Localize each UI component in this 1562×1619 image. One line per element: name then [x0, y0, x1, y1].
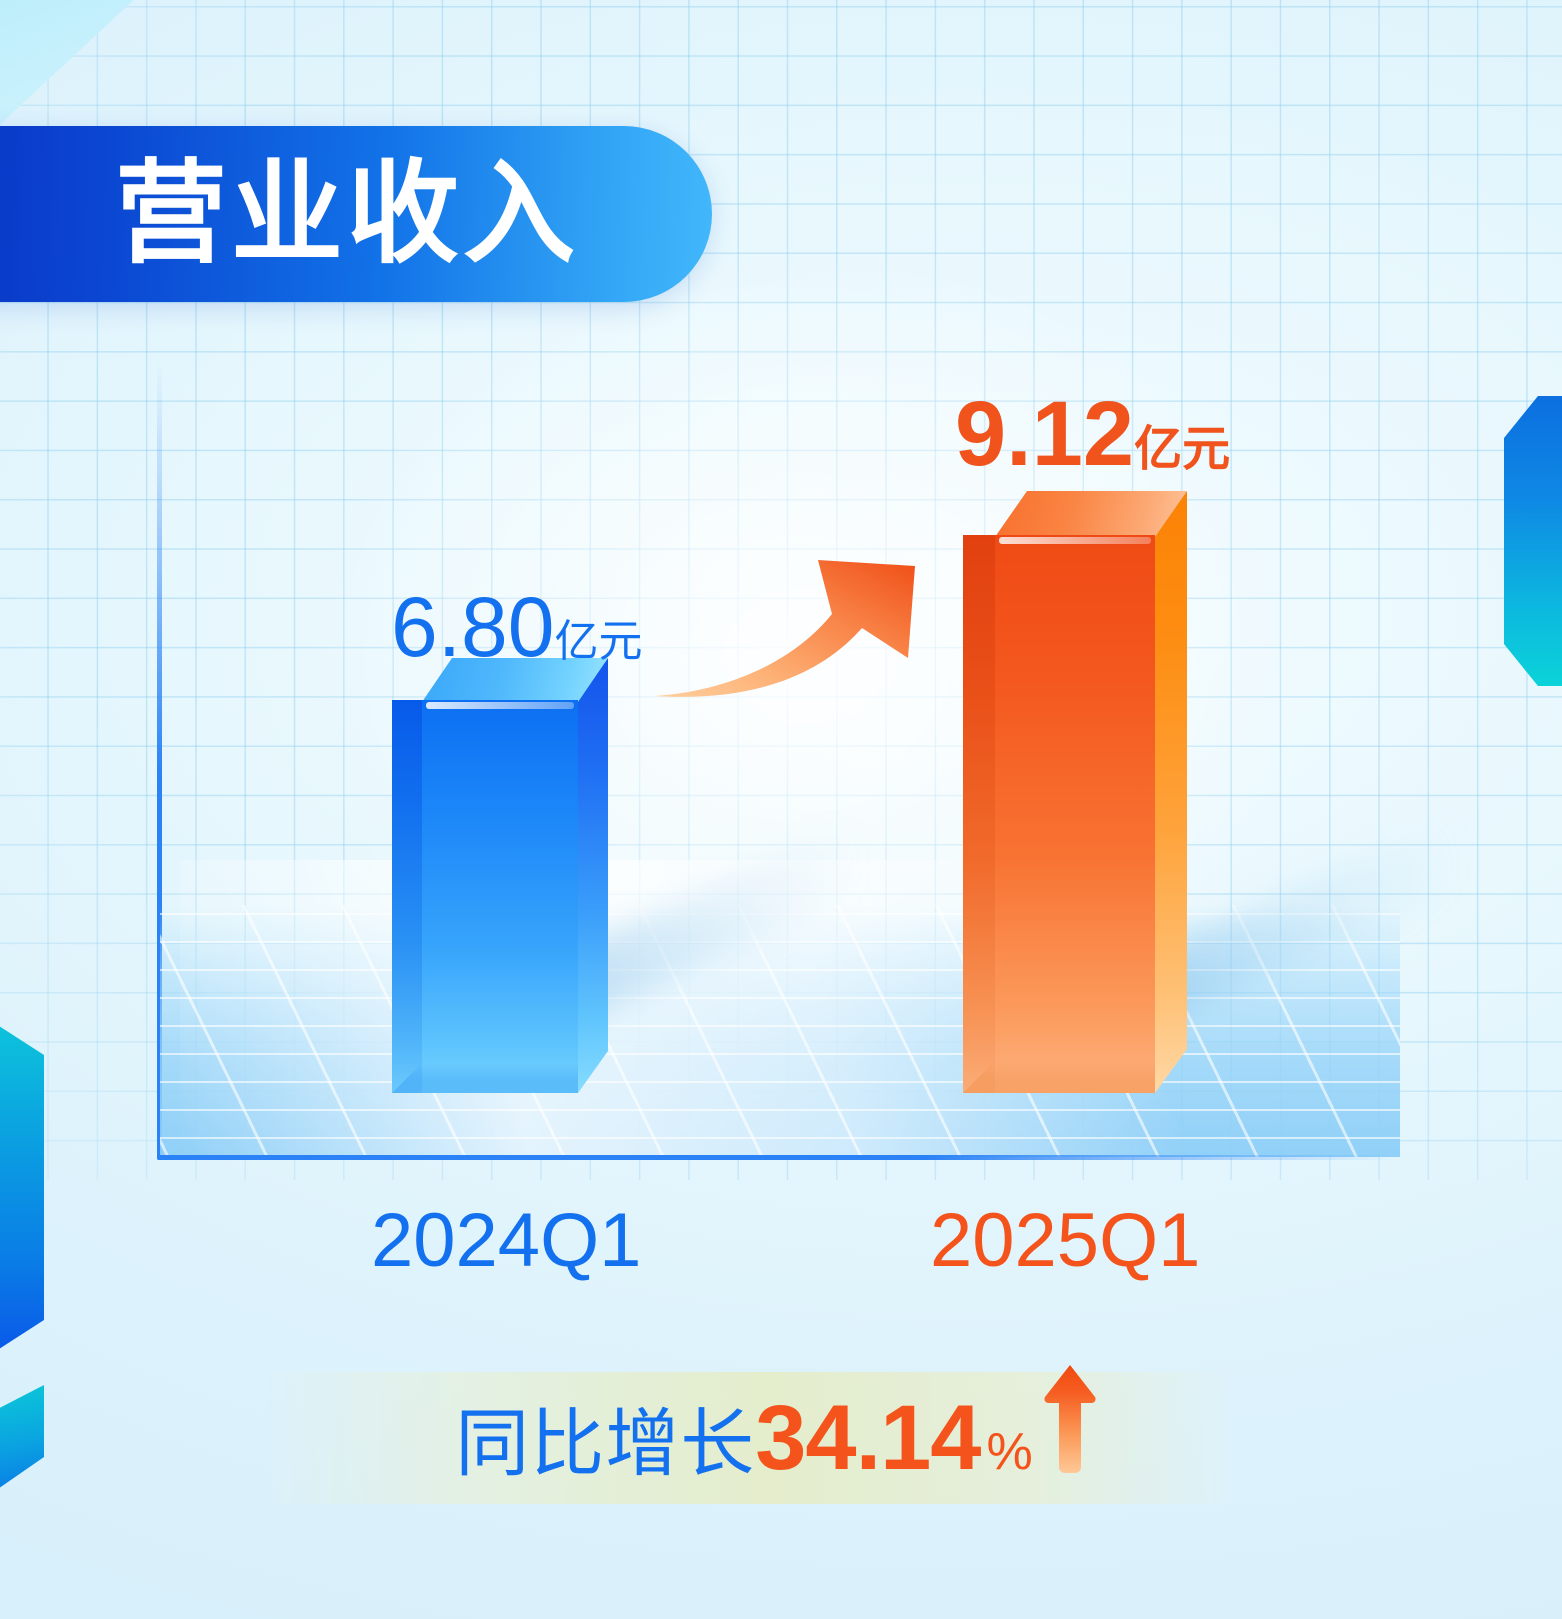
growth-curve-arrow-icon: [650, 556, 930, 706]
category-label-2025q1: 2025Q1: [930, 1203, 1200, 1279]
value-unit-2025q1: 亿元: [1134, 423, 1230, 476]
axis-x-line: [157, 1155, 1397, 1160]
bar-2024q1-front-face: [392, 700, 578, 1093]
edge-decoration-right: [1504, 396, 1562, 686]
edge-decoration-left: [0, 1015, 44, 1360]
value-label-2024q1: 6.80亿元: [391, 585, 643, 669]
bar-2025q1-front-face: [963, 535, 1155, 1093]
growth-prefix-label: 同比增长: [455, 1407, 755, 1481]
value-number-2025q1: 9.12: [955, 383, 1134, 485]
page-title: 营业收入: [115, 158, 579, 270]
value-number-2024q1: 6.80: [391, 580, 555, 674]
bar-2025q1[interactable]: [963, 535, 1155, 1093]
bar-2025q1-side-face: [1155, 491, 1187, 1093]
title-banner: 营业收入: [0, 126, 712, 302]
growth-value: 34.14: [755, 1392, 980, 1484]
bar-2024q1-side-face: [578, 658, 608, 1093]
growth-banner-content: 同比增长 34.14 %: [455, 1392, 1032, 1484]
value-unit-2024q1: 亿元: [555, 617, 643, 666]
growth-up-arrow-icon: [1043, 1363, 1097, 1475]
infographic-canvas: 营业收入 6.80亿元 9.12亿元: [0, 0, 1562, 1619]
value-label-2025q1: 9.12亿元: [955, 388, 1230, 480]
bar-2025q1-gloss: [999, 537, 1151, 544]
growth-percent-sign: %: [986, 1426, 1032, 1478]
bar-2025q1-top-face: [995, 491, 1187, 537]
category-label-2024q1: 2024Q1: [371, 1203, 641, 1279]
bar-2024q1[interactable]: [392, 700, 578, 1093]
bar-2024q1-gloss: [426, 702, 574, 709]
